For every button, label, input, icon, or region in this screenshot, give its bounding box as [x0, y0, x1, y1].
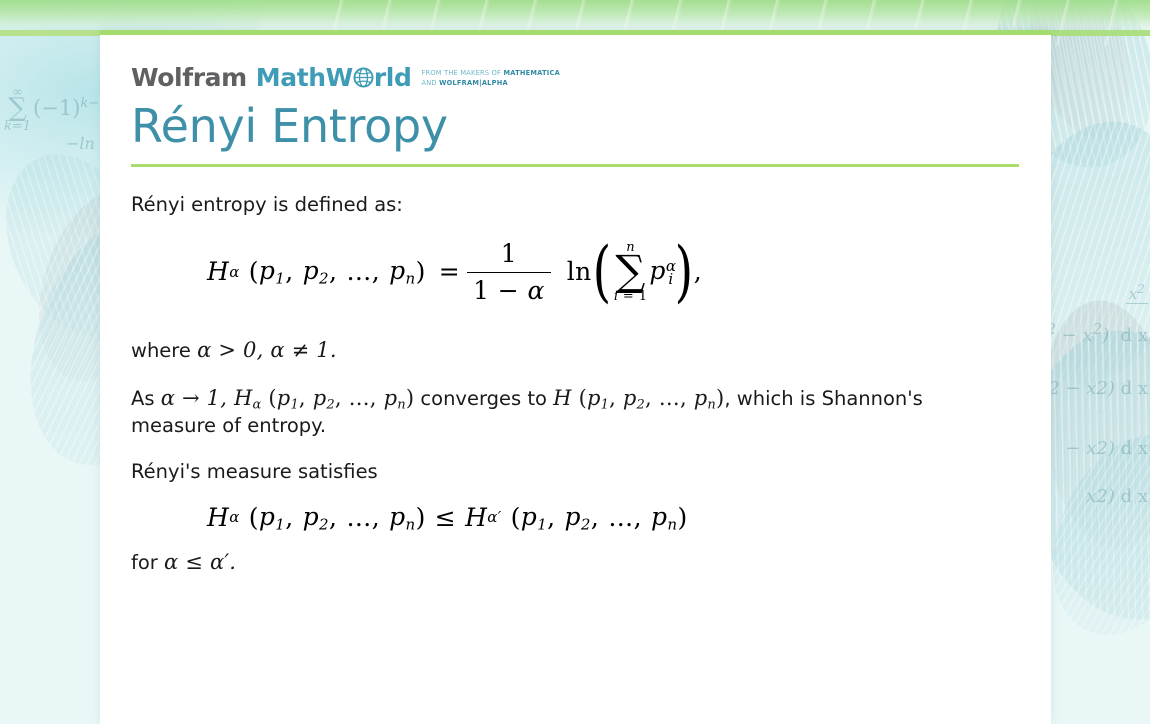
eq-paren-open: (: [249, 256, 259, 288]
equation-renyi-inequality: Hα(p1,p2,…,pn)≤Hα′(p1,p2,…,pn): [131, 501, 1020, 535]
eq-sum-term: pαi: [649, 255, 673, 289]
convergence-H-alpha: Hα (p1, p2, …, pn): [227, 386, 414, 410]
for-paragraph: for α ≤ α′.: [131, 549, 1020, 576]
content-card: Wolfram MathW rld FROM THE MAKERS OF MAT…: [100, 30, 1051, 724]
eq-fraction-denominator: 1 − α: [467, 273, 551, 307]
logo-w-text: W: [326, 65, 353, 90]
background-math-frac-3: 2 − x2) d x: [1048, 378, 1148, 399]
convergence-paragraph: As α → 1, Hα (p1, p2, …, pn) converges t…: [131, 385, 991, 439]
eq-ln: ln: [567, 256, 592, 288]
satisfies-paragraph: Rényi's measure satisfies: [131, 460, 1020, 485]
convergence-limit: α → 1,: [161, 386, 227, 410]
intro-paragraph: Rényi entropy is defined as:: [131, 193, 1020, 218]
convergence-H-shannon: H (p1, p2, …, pn): [553, 386, 724, 410]
logo-mathworld-text: MathW rld: [256, 65, 412, 90]
bgmath-sum-upper: ∞: [12, 86, 23, 99]
ineq-lhs-sub: α: [229, 508, 240, 527]
eq-summation: n∑i = 1: [614, 241, 648, 303]
eq-sum-sigma: ∑: [615, 252, 645, 291]
ineq-rhs-H: H: [465, 502, 487, 534]
ineq-lhs-H: H: [207, 502, 229, 534]
background-math-frac-1: x2: [1126, 282, 1148, 304]
article-body: Rényi entropy is defined as: Hα(p1,p2,…,…: [131, 167, 1020, 576]
eq-paren-close: ): [416, 256, 426, 288]
background-math-ln: −ln: [66, 134, 95, 153]
globe-icon: [353, 67, 374, 88]
eq-H-sub: α: [229, 263, 240, 282]
background-math-sum: ∞ ∑ k=1 (−1)k−1: [2, 86, 107, 133]
logo-wolfram-text: Wolfram: [131, 65, 247, 90]
eq-big-paren-open: (: [592, 248, 611, 296]
eq-trailing-comma: ,: [694, 256, 702, 288]
convergence-mid-text: converges to: [414, 387, 553, 410]
logo-rld-text: rld: [374, 65, 412, 90]
background-green-gradient: [0, 0, 1150, 34]
ineq-rhs-sub: α′: [487, 508, 501, 527]
logo-math-text: Math: [256, 65, 326, 90]
background-math-frac-4: − x2) d x: [1065, 438, 1148, 459]
ineq-relation: ≤: [435, 502, 456, 534]
tagline-line-1: FROM THE MAKERS OF MATHEMATICA: [421, 69, 559, 77]
eq-equals: =: [439, 256, 460, 288]
eq-fraction: 11 − α: [467, 238, 551, 307]
where-label: where: [131, 339, 197, 362]
for-condition: α ≤ α′.: [164, 550, 236, 574]
where-paragraph: where α > 0, α ≠ 1.: [131, 337, 1020, 364]
tagline-line-2: AND WOLFRAM|ALPHA: [421, 79, 507, 87]
equation-renyi-definition: Hα(p1,p2,…,pn)=11 − αln(n∑i = 1pαi),: [131, 238, 1020, 307]
page-title: Rényi Entropy: [131, 101, 1020, 152]
bgmath-term: (−1): [33, 96, 80, 120]
bgmath-frac-num: x2: [1126, 282, 1148, 304]
eq-fraction-numerator: 1: [495, 238, 523, 272]
site-logo[interactable]: Wolfram MathW rld FROM THE MAKERS OF MAT…: [131, 35, 1020, 90]
for-label: for: [131, 551, 164, 574]
eq-H: H: [207, 256, 229, 288]
where-condition-2: α ≠ 1.: [263, 338, 336, 362]
where-condition-1: α > 0,: [197, 338, 263, 362]
convergence-as-label: As: [131, 387, 161, 410]
background-math-frac-5: x2) d x: [1086, 486, 1148, 507]
page-root: ∞ ∑ k=1 (−1)k−1 −ln x2 (b2 − x2) d x 2 −…: [0, 0, 1150, 724]
eq-sum-lower: i = 1: [614, 290, 648, 303]
bgmath-sum-lower: k=1: [4, 120, 31, 133]
bgmath-sum-sigma: ∑: [8, 97, 27, 121]
logo-tagline: FROM THE MAKERS OF MATHEMATICA AND WOLFR…: [421, 68, 559, 88]
eq-big-paren-close: ): [674, 248, 693, 296]
